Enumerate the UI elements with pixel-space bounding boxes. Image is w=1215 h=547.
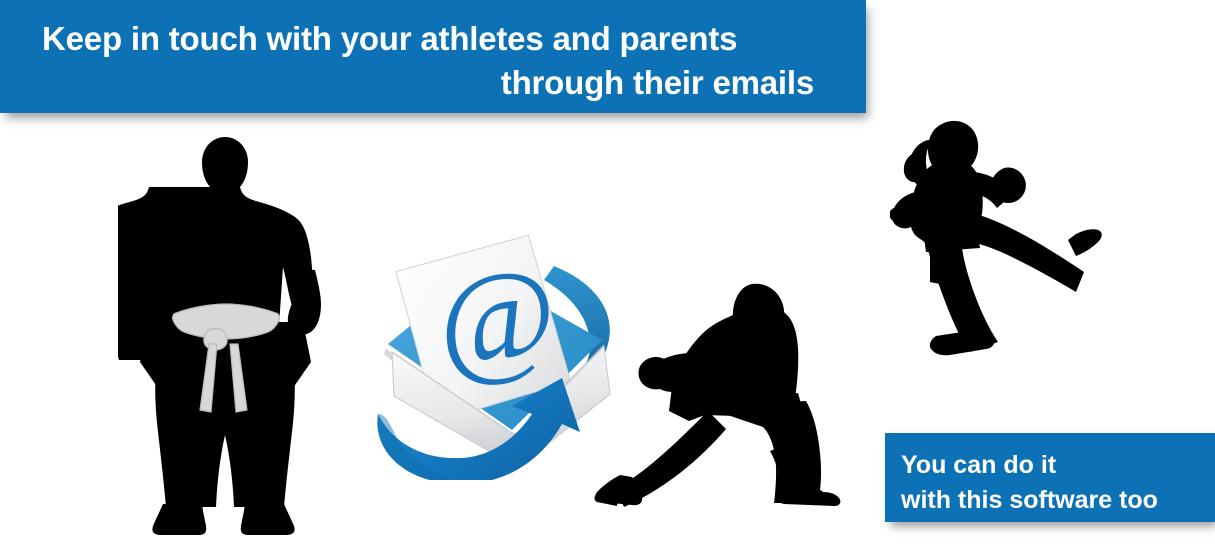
callout-box: You can do it with this software too <box>885 433 1215 522</box>
at-symbol: @ <box>431 240 563 394</box>
karate-kicking-female-silhouette <box>890 110 1102 356</box>
email-envelope-icon: @ <box>366 218 628 480</box>
karate-low-stance-silhouette <box>592 281 845 513</box>
karate-standing-silhouette <box>118 132 333 537</box>
callout-line-1: You can do it <box>901 448 1215 482</box>
callout-line-2: with this software too <box>901 483 1215 517</box>
promo-banner-stage: Keep in touch with your athletes and par… <box>0 0 1215 547</box>
at-symbol-glyph: @ <box>431 240 563 394</box>
header-headline-line-2: through their emails <box>42 61 814 105</box>
header-headline-line-1: Keep in touch with your athletes and par… <box>42 17 814 61</box>
header-banner: Keep in touch with your athletes and par… <box>0 0 866 113</box>
